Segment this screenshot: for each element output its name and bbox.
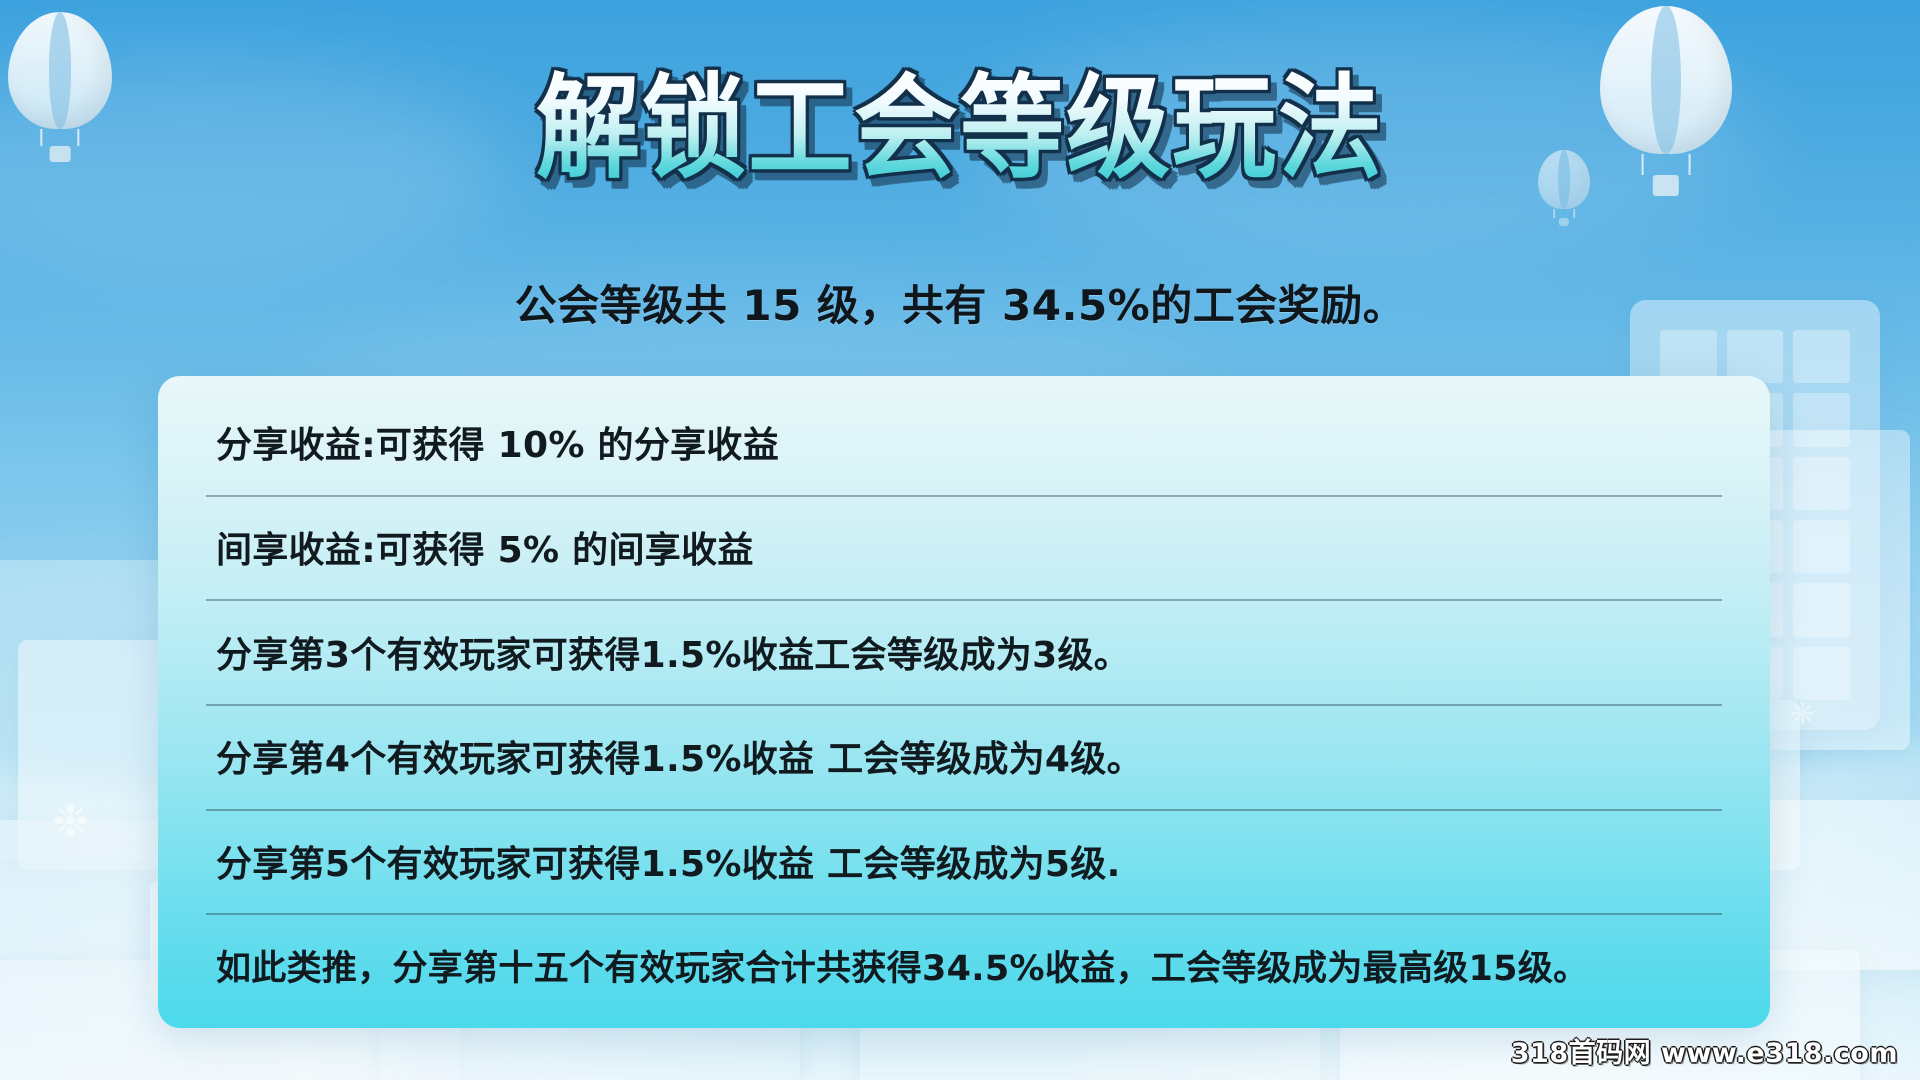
rule-row: 分享收益:可获得 10% 的分享收益 <box>158 390 1770 495</box>
rule-row: 如此类推，分享第十五个有效玩家合计共获得34.5%收益，工会等级成为最高级15级… <box>158 913 1770 1018</box>
rule-text: 分享第4个有效玩家可获得1.5%收益 工会等级成为4级。 <box>216 730 1143 782</box>
site-watermark: 318首码网 www.e318.com <box>1511 1031 1898 1070</box>
page-subtitle: 公会等级共 15 级，共有 34.5%的工会奖励。 <box>0 272 1920 333</box>
title-container: 解锁工会等级玩法 <box>0 74 1920 183</box>
snowflake-icon: ❋ <box>1790 700 1815 730</box>
rule-row: 分享第5个有效玩家可获得1.5%收益 工会等级成为5级. <box>158 809 1770 914</box>
rule-text: 分享收益:可获得 10% 的分享收益 <box>216 416 779 468</box>
rule-row: 间享收益:可获得 5% 的间享收益 <box>158 495 1770 600</box>
poster-background: ❉ ✳ ❋ 解锁工会等级玩法 公会等级共 15 级，共有 34.5%的工会奖励。… <box>0 0 1920 1080</box>
rule-row: 分享第3个有效玩家可获得1.5%收益工会等级成为3级。 <box>158 599 1770 704</box>
rule-text: 分享第5个有效玩家可获得1.5%收益 工会等级成为5级. <box>216 835 1121 887</box>
rule-text: 间享收益:可获得 5% 的间享收益 <box>216 521 754 573</box>
rules-card: 分享收益:可获得 10% 的分享收益 间享收益:可获得 5% 的间享收益 分享第… <box>158 376 1770 1028</box>
rule-text: 分享第3个有效玩家可获得1.5%收益工会等级成为3级。 <box>216 626 1130 678</box>
rule-text: 如此类推，分享第十五个有效玩家合计共获得34.5%收益，工会等级成为最高级15级… <box>216 940 1588 991</box>
snowflake-icon: ❉ <box>52 800 89 844</box>
rule-row: 分享第4个有效玩家可获得1.5%收益 工会等级成为4级。 <box>158 704 1770 809</box>
page-title: 解锁工会等级玩法 <box>536 70 1384 188</box>
